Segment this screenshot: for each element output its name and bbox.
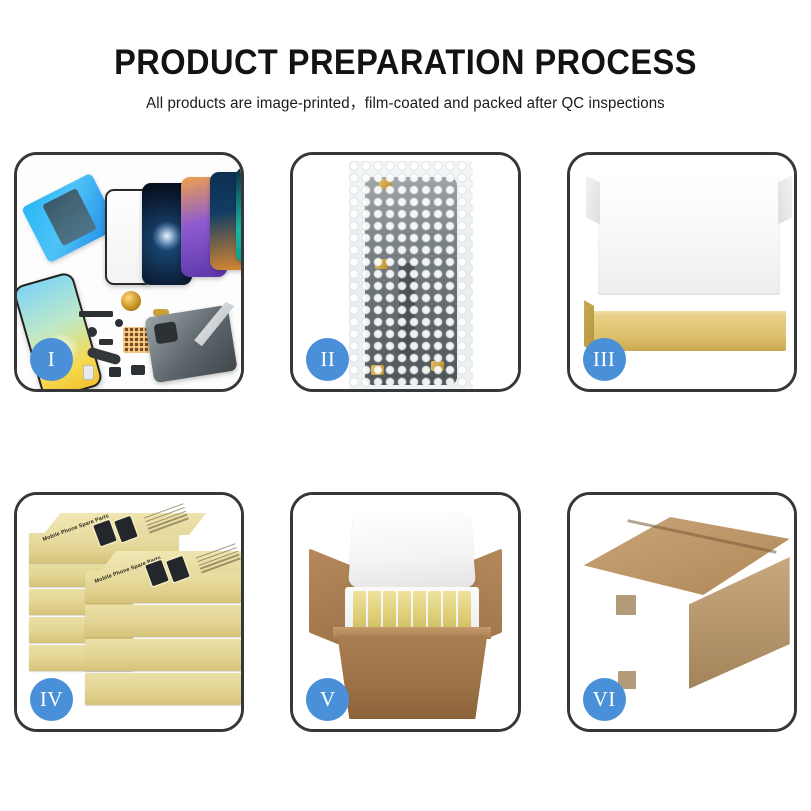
step-numeral-3: III xyxy=(593,349,615,371)
part-strip-1 xyxy=(79,311,113,317)
step-card-4[interactable]: Mobile Phone Spare Parts xyxy=(14,492,244,732)
process-row-top: I xyxy=(14,152,797,392)
part-round-2 xyxy=(87,327,97,337)
step-card-2[interactable]: II xyxy=(290,152,520,392)
step-numeral-5: V xyxy=(320,689,336,711)
bubble-texture xyxy=(349,161,473,389)
white-box-lid xyxy=(598,175,780,295)
phone-lineup xyxy=(105,169,241,289)
step-card-1[interactable]: I xyxy=(14,152,244,392)
step-badge-1: I xyxy=(30,338,73,381)
step-card-6[interactable]: VI xyxy=(567,492,797,732)
step-badge-4: IV xyxy=(30,678,73,721)
part-strip-2 xyxy=(99,339,113,345)
bubble-wrap-bag xyxy=(349,161,473,389)
process-steps-grid: I xyxy=(14,152,797,732)
flex-cable-part xyxy=(86,347,121,366)
stack-box-front-4 xyxy=(85,673,241,705)
page-subtitle: All products are image-printed，film-coat… xyxy=(12,91,799,113)
step-badge-3: III xyxy=(583,338,626,381)
part-round-1 xyxy=(115,319,123,327)
part-dark-2 xyxy=(131,365,145,375)
stack-box-front-3 xyxy=(85,639,241,671)
step-numeral-2: II xyxy=(320,349,335,371)
carton-hand-hole-top xyxy=(616,595,636,615)
step-numeral-6: VI xyxy=(593,689,616,711)
product-preparation-process-page: PRODUCT PREPARATION PROCESS All products… xyxy=(0,0,811,811)
part-dark-1 xyxy=(109,367,121,377)
step-numeral-4: IV xyxy=(40,689,63,711)
step-badge-6: VI xyxy=(583,678,626,721)
step-card-3[interactable]: III xyxy=(567,152,797,392)
carton-left-face xyxy=(584,573,690,693)
process-row-bottom: Mobile Phone Spare Parts xyxy=(14,492,797,732)
step-numeral-1: I xyxy=(48,349,56,371)
page-title: PRODUCT PREPARATION PROCESS xyxy=(28,44,782,82)
carton-body xyxy=(337,635,487,719)
header: PRODUCT PREPARATION PROCESS All products… xyxy=(0,44,811,113)
foam-box-lid xyxy=(348,512,476,587)
part-white-1 xyxy=(83,365,94,380)
phone-teal xyxy=(236,167,241,263)
stack-box-front-2 xyxy=(85,605,241,637)
step-card-5[interactable]: V xyxy=(290,492,520,732)
